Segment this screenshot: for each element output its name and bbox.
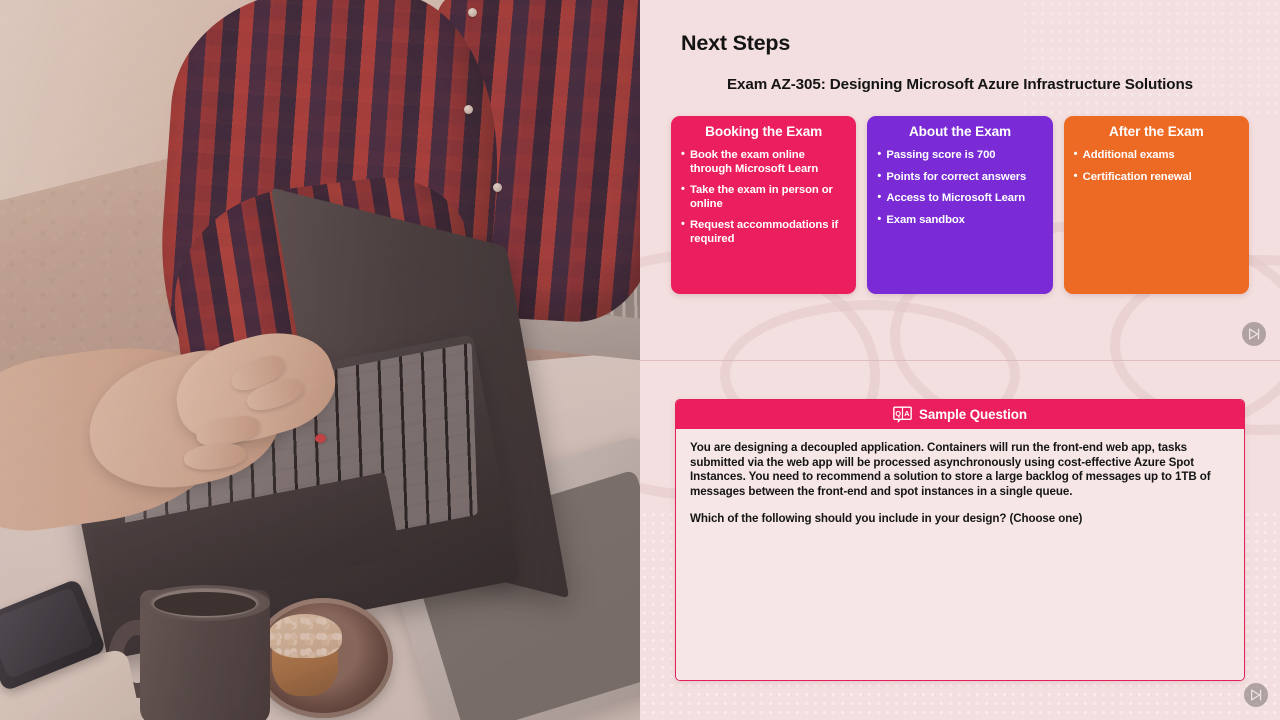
slide-screen: Next Steps Exam AZ-305: Designing Micros… xyxy=(0,0,1280,720)
card-bullet: Request accommodations if required xyxy=(681,219,846,246)
next-steps-cards: Booking the Exam Book the exam online th… xyxy=(671,116,1249,294)
card-bullet: Take the exam in person or online xyxy=(681,184,846,211)
exam-title: Exam AZ-305: Designing Microsoft Azure I… xyxy=(640,76,1280,93)
card-bullet-list: Book the exam online through Microsoft L… xyxy=(681,149,846,246)
card-title: Booking the Exam xyxy=(681,124,846,139)
card-after-the-exam: After the Exam Additional exams Certific… xyxy=(1064,116,1249,294)
card-bullet: Points for correct answers xyxy=(877,171,1042,185)
play-next-icon xyxy=(1249,688,1263,702)
card-bullet: Exam sandbox xyxy=(877,214,1042,228)
play-next-icon xyxy=(1247,327,1261,341)
card-bullet: Additional exams xyxy=(1074,149,1239,163)
card-title: About the Exam xyxy=(877,124,1042,139)
card-bullet: Passing score is 700 xyxy=(877,149,1042,163)
question-prompt-text: Which of the following should you includ… xyxy=(690,512,1230,527)
card-bullet: Book the exam online through Microsoft L… xyxy=(681,149,846,176)
photo-color-overlay xyxy=(0,0,640,720)
svg-text:A: A xyxy=(904,409,910,418)
card-title: After the Exam xyxy=(1074,124,1239,139)
photo-panel xyxy=(0,0,640,720)
question-scenario-text: You are designing a decoupled applicatio… xyxy=(690,441,1230,499)
card-bullet-list: Passing score is 700 Points for correct … xyxy=(877,149,1042,227)
sample-question-body: You are designing a decoupled applicatio… xyxy=(676,429,1244,680)
card-bullet: Access to Microsoft Learn xyxy=(877,192,1042,206)
sample-question-title: Sample Question xyxy=(919,407,1027,422)
svg-text:Q: Q xyxy=(895,409,901,418)
sample-question-header: Q A Sample Question xyxy=(676,400,1244,429)
page-title: Next Steps xyxy=(681,31,790,56)
slide-content-panel: Next Steps Exam AZ-305: Designing Micros… xyxy=(640,0,1280,720)
next-button-bottom[interactable] xyxy=(1244,683,1268,707)
background-dot-pattern-top xyxy=(1020,0,1280,120)
card-bullet-list: Additional exams Certification renewal xyxy=(1074,149,1239,184)
sample-question-panel: Q A Sample Question You are designing a … xyxy=(675,399,1245,681)
qa-bubble-icon: Q A xyxy=(893,406,912,424)
next-button-top[interactable] xyxy=(1242,322,1266,346)
card-booking-the-exam: Booking the Exam Book the exam online th… xyxy=(671,116,856,294)
card-about-the-exam: About the Exam Passing score is 700 Poin… xyxy=(867,116,1052,294)
section-divider xyxy=(640,360,1280,361)
card-bullet: Certification renewal xyxy=(1074,171,1239,185)
